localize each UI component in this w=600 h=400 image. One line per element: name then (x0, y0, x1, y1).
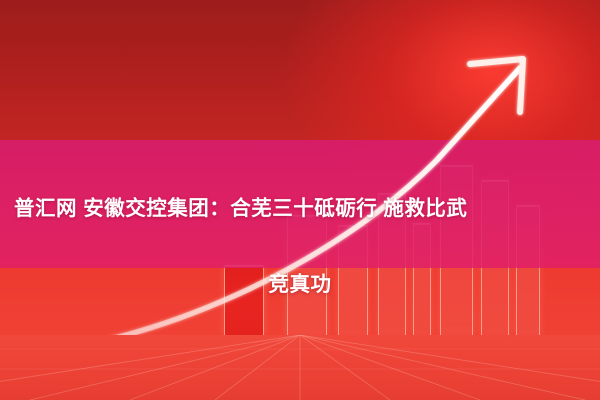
headline-text: 普汇网 安徽交控集团：合芜三十砥砺行 施救比武 竞真功 (0, 152, 600, 342)
headline-line-1: 普汇网 安徽交控集团：合芜三十砥砺行 施救比武 (0, 190, 600, 228)
banner-image: 普汇网 安徽交控集团：合芜三十砥砺行 施救比武 竞真功 (0, 0, 600, 400)
perspective-floor (0, 335, 600, 400)
headline-line-2: 竞真功 (0, 266, 600, 304)
floor-grid-lines (0, 335, 600, 400)
